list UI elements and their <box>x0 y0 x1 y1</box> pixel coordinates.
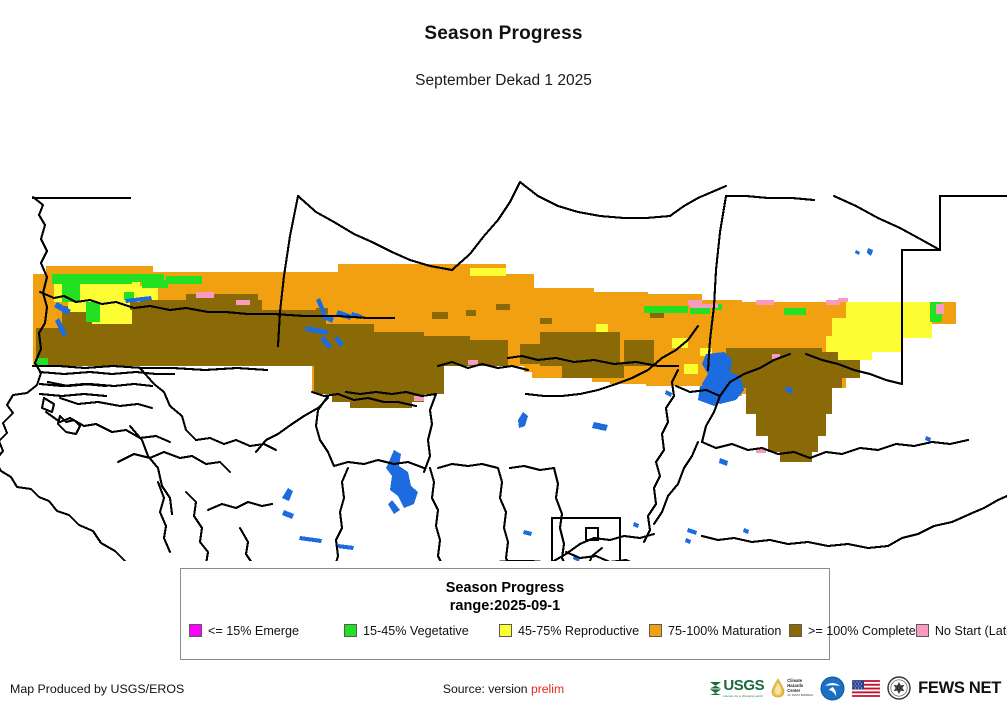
legend-swatch-reproductive <box>499 624 512 637</box>
usa-flag[interactable] <box>852 680 880 697</box>
legend-items: <= 15% Emerge 15-45% Vegetative 45-75% R… <box>189 621 823 640</box>
map-canvas[interactable] <box>0 96 1007 561</box>
usgs-wave-icon <box>709 681 722 696</box>
noaa-logo[interactable] <box>820 676 845 701</box>
legend-swatch-vegetative <box>344 624 357 637</box>
map-page: Season Progress September Dekad 1 2025 <box>0 0 1007 715</box>
legend-label-maturation: 75-100% Maturation <box>668 624 781 638</box>
legend-label-no-start-late: No Start (Late) <box>935 624 1007 638</box>
map-graphic <box>0 96 1007 561</box>
legend-swatch-emerge <box>189 624 202 637</box>
page-subtitle: September Dekad 1 2025 <box>0 72 1007 90</box>
usaid-seal[interactable] <box>887 676 911 700</box>
legend-item-maturation[interactable]: 75-100% Maturation <box>649 621 789 640</box>
fewsnet-logo[interactable]: FEWS NET <box>918 680 1001 697</box>
footer-bar: Map Produced by USGS/EROS Source: versio… <box>0 660 1007 715</box>
legend-title-line1: Season Progress <box>181 579 829 597</box>
legend-title: Season Progress range:2025-09-1 <box>181 579 829 615</box>
legend-label-complete: >= 100% Complete <box>808 624 916 638</box>
legend-item-complete[interactable]: >= 100% Complete <box>789 621 916 640</box>
legend-swatch-maturation <box>649 624 662 637</box>
legend-label-reproductive: 45-75% Reproductive <box>518 624 639 638</box>
legend-item-no-start-late[interactable]: No Start (Late) <box>916 621 1007 640</box>
water-drop-icon <box>771 678 785 698</box>
footer-source-version: prelim <box>531 682 564 696</box>
footer-source-prefix: Source: version <box>443 682 531 696</box>
chc-subline: UC SANTA BARBARA <box>787 694 813 697</box>
legend-swatch-no-start-late <box>916 624 929 637</box>
usgs-logo[interactable]: USGS science for a changing world <box>709 678 764 698</box>
page-title: Season Progress <box>0 23 1007 45</box>
legend-panel: Season Progress range:2025-09-1 <= 15% E… <box>180 568 830 660</box>
legend-item-emerge[interactable]: <= 15% Emerge <box>189 621 344 640</box>
legend-item-vegetative[interactable]: 15-45% Vegetative <box>344 621 499 640</box>
legend-item-reproductive[interactable]: 45-75% Reproductive <box>499 621 649 640</box>
usgs-wordmark: USGS <box>723 678 764 693</box>
logo-strip: USGS science for a changing world Climat… <box>709 672 1001 704</box>
chc-logo[interactable]: Climate Hazards Center UC SANTA BARBARA <box>771 678 813 698</box>
legend-label-vegetative: 15-45% Vegetative <box>363 624 469 638</box>
legend-swatch-complete <box>789 624 802 637</box>
legend-label-emerge: <= 15% Emerge <box>208 624 299 638</box>
usgs-tagline: science for a changing world <box>723 694 764 698</box>
legend-title-line2: range:2025-09-1 <box>181 597 829 615</box>
